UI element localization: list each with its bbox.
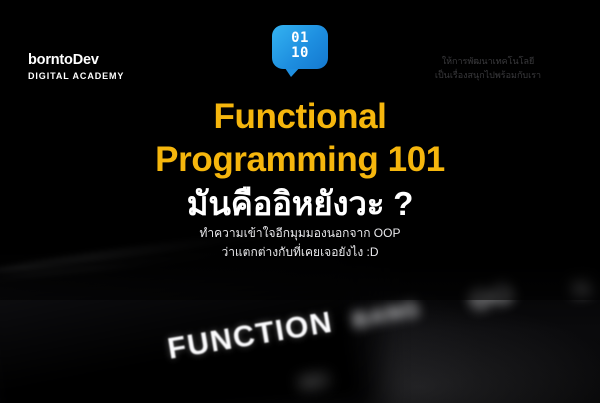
promo-banner: BANG OO N MO FUNCTION borntoDev DIGITAL … <box>0 0 600 403</box>
headline-line-2: Programming 101 <box>0 139 600 182</box>
binary-digits-line-2: 10 <box>272 46 328 61</box>
binary-speech-bubble-icon: 01 10 <box>272 25 328 77</box>
binary-digits-line-1: 01 <box>272 31 328 46</box>
brand-logo: borntoDev DIGITAL ACADEMY <box>28 53 124 81</box>
banner-content: borntoDev DIGITAL ACADEMY 01 10 ให้การพั… <box>0 0 600 403</box>
subtitle-block: ทำความเข้าใจอีกมุมมองนอกจาก OOP ว่าแตกต่… <box>0 224 600 263</box>
subtitle-line-2: ว่าแตกต่างกับที่เคยเจอยังไง :D <box>0 243 600 262</box>
headline-line-3: มันคืออิหยังวะ ? <box>0 183 600 224</box>
brand-logo-tagline: DIGITAL ACADEMY <box>28 72 124 81</box>
brand-tagline-line-1: ให้การพัฒนาเทคโนโลยี <box>388 55 588 69</box>
subtitle-line-1: ทำความเข้าใจอีกมุมมองนอกจาก OOP <box>0 224 600 243</box>
binary-digits: 01 10 <box>272 31 328 61</box>
headline-block: Functional Programming 101 มันคืออิหยังว… <box>0 96 600 225</box>
brand-tagline-line-2: เป็นเรื่องสนุกไปพร้อมกับเรา <box>388 69 588 83</box>
brand-tagline: ให้การพัฒนาเทคโนโลยี เป็นเรื่องสนุกไปพร้… <box>388 55 588 83</box>
headline-line-1: Functional <box>0 96 600 139</box>
brand-logo-name: borntoDev <box>28 53 124 68</box>
